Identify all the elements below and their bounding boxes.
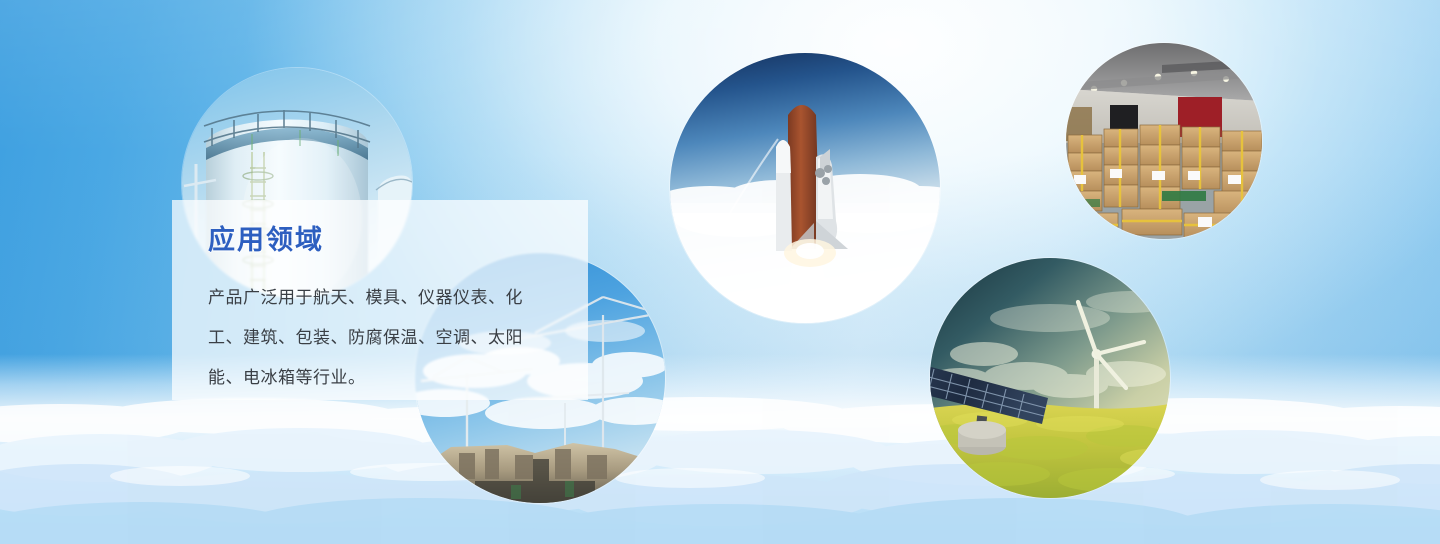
warehouse-photo bbox=[1066, 43, 1262, 239]
solar-wind-photo bbox=[930, 258, 1170, 498]
application-fields-panel: 应用领域 产品广泛用于航天、模具、仪器仪表、化 工、建筑、包装、防腐保温、空调、… bbox=[172, 200, 588, 400]
description-line: 工、建筑、包装、防腐保温、空调、太阳 bbox=[208, 318, 560, 358]
space-shuttle-photo bbox=[670, 53, 940, 323]
page-title: 应用领域 bbox=[208, 218, 324, 257]
application-fields-banner: 应用领域 产品广泛用于航天、模具、仪器仪表、化 工、建筑、包装、防腐保温、空调、… bbox=[0, 0, 1440, 544]
description-line: 能、电冰箱等行业。 bbox=[208, 358, 560, 398]
panel-description: 产品广泛用于航天、模具、仪器仪表、化 工、建筑、包装、防腐保温、空调、太阳 能、… bbox=[208, 278, 560, 398]
description-line: 产品广泛用于航天、模具、仪器仪表、化 bbox=[208, 278, 560, 318]
